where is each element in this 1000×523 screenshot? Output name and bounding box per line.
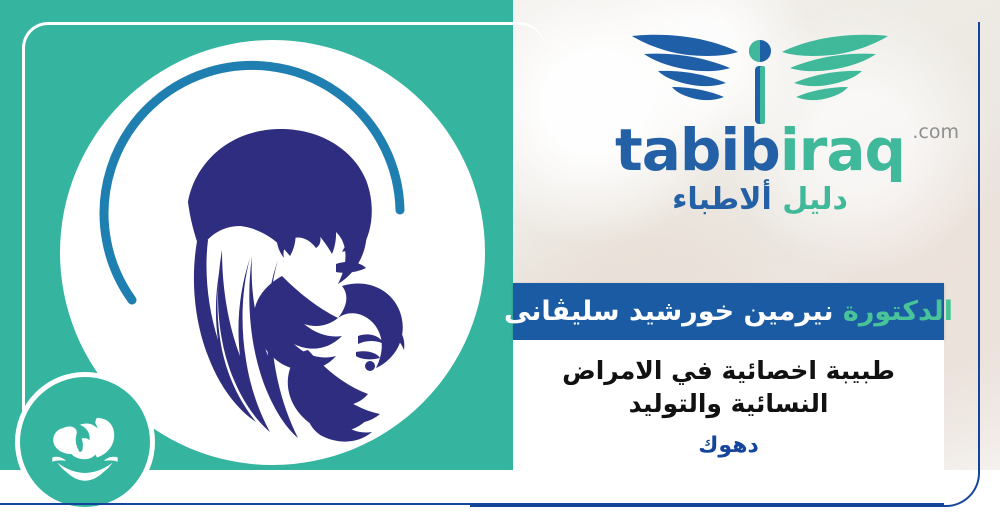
doctor-name-title: الدكتورة نيرمين خورشيد سليڤانى: [504, 298, 953, 325]
brand-tld: .com: [912, 123, 959, 142]
doctor-profile-card: tabibiraq.com دليل ألاطباء الدكتورة نيرم…: [0, 0, 1000, 523]
doctor-info-card: طبيبة اخصائية في الامراض النسائية والتول…: [513, 340, 944, 488]
doctor-specialty: طبيبة اخصائية في الامراض النسائية والتول…: [539, 354, 919, 420]
fetus-in-hands-icon: [42, 399, 128, 485]
brand-wordmark: tabibiraq.com: [615, 121, 905, 179]
brand-tagline: دليل ألاطباء: [672, 185, 848, 215]
brand-logo: tabibiraq.com دليل ألاطباء: [560, 22, 960, 232]
doctor-honorific: الدكتورة: [843, 296, 953, 327]
brand-name-iraq: iraq: [780, 116, 905, 184]
doctor-name-banner: الدكتورة نيرمين خورشيد سليڤانى: [513, 283, 944, 340]
winged-caduceus-person-icon: [630, 22, 890, 127]
brand-name-tabib: tabib: [615, 116, 780, 184]
brand-tagline-blue: ألاطباء: [672, 182, 772, 217]
brand-tagline-green: دليل: [782, 182, 848, 217]
fetus-in-hands-badge: [15, 372, 155, 512]
doctor-city: دهوك: [698, 433, 759, 458]
doctor-full-name: نيرمين خورشيد سليڤانى: [504, 296, 834, 327]
blue-frame-bottom-line: [0, 503, 944, 505]
